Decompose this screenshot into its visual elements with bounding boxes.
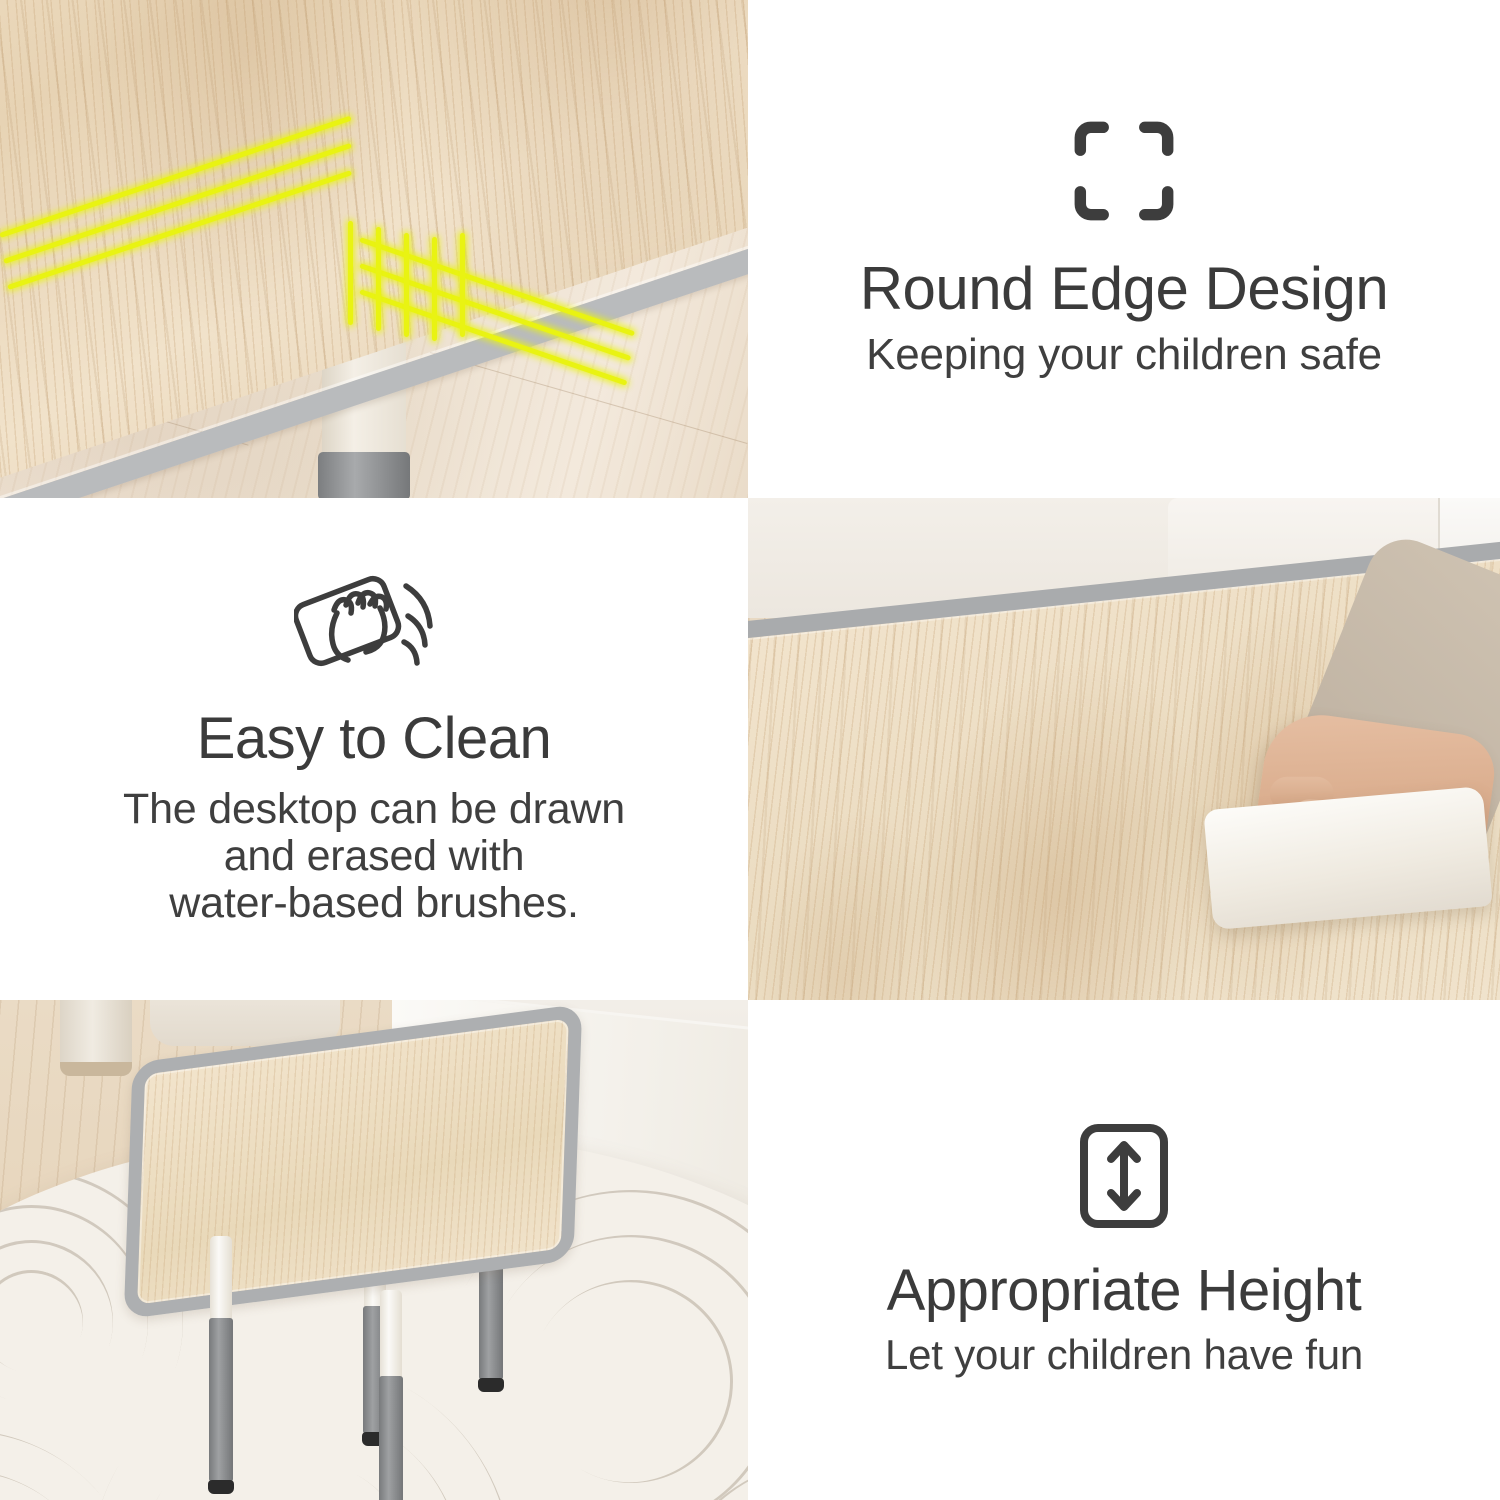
- feature-subtitle: Keeping your children safe: [866, 330, 1382, 379]
- feature-title: Easy to Clean: [197, 708, 552, 769]
- rounded-edge-highlight: [280, 215, 580, 415]
- feature-subtitle-line-3: water-based brushes.: [169, 880, 579, 927]
- height-adjust-icon: [1078, 1122, 1170, 1230]
- feature-title: Appropriate Height: [887, 1260, 1362, 1321]
- photo-full-table: [0, 1000, 748, 1500]
- photo-wipe-desktop: [748, 498, 1500, 1000]
- feature-panel-easy-clean: Easy to Clean The desktop can be drawn a…: [0, 498, 748, 1000]
- photo-table-corner: [0, 0, 748, 498]
- table-leg-sleeve-front: [318, 452, 410, 498]
- tabletop-rounded-trim: [124, 1004, 583, 1320]
- kids-table: [128, 1028, 598, 1488]
- feature-subtitle-line-2: and erased with: [224, 833, 525, 880]
- corner-brackets-icon: [1072, 119, 1176, 223]
- table-leg-front-left: [210, 1236, 232, 1500]
- table-leg-front-center: [380, 1290, 402, 1500]
- cleaning-cloth: [1203, 786, 1492, 930]
- hand-wipe-icon: [294, 570, 454, 682]
- feature-subtitle-line-1: The desktop can be drawn: [123, 786, 625, 833]
- feature-title: Round Edge Design: [860, 257, 1389, 321]
- feature-panel-round-edge: Round Edge Design Keeping your children …: [748, 0, 1500, 498]
- feature-subtitle: Let your children have fun: [885, 1331, 1363, 1378]
- feature-grid: Round Edge Design Keeping your children …: [0, 0, 1500, 1500]
- feature-panel-appropriate-height: Appropriate Height Let your children hav…: [748, 1000, 1500, 1500]
- furniture-leg: [60, 1000, 132, 1076]
